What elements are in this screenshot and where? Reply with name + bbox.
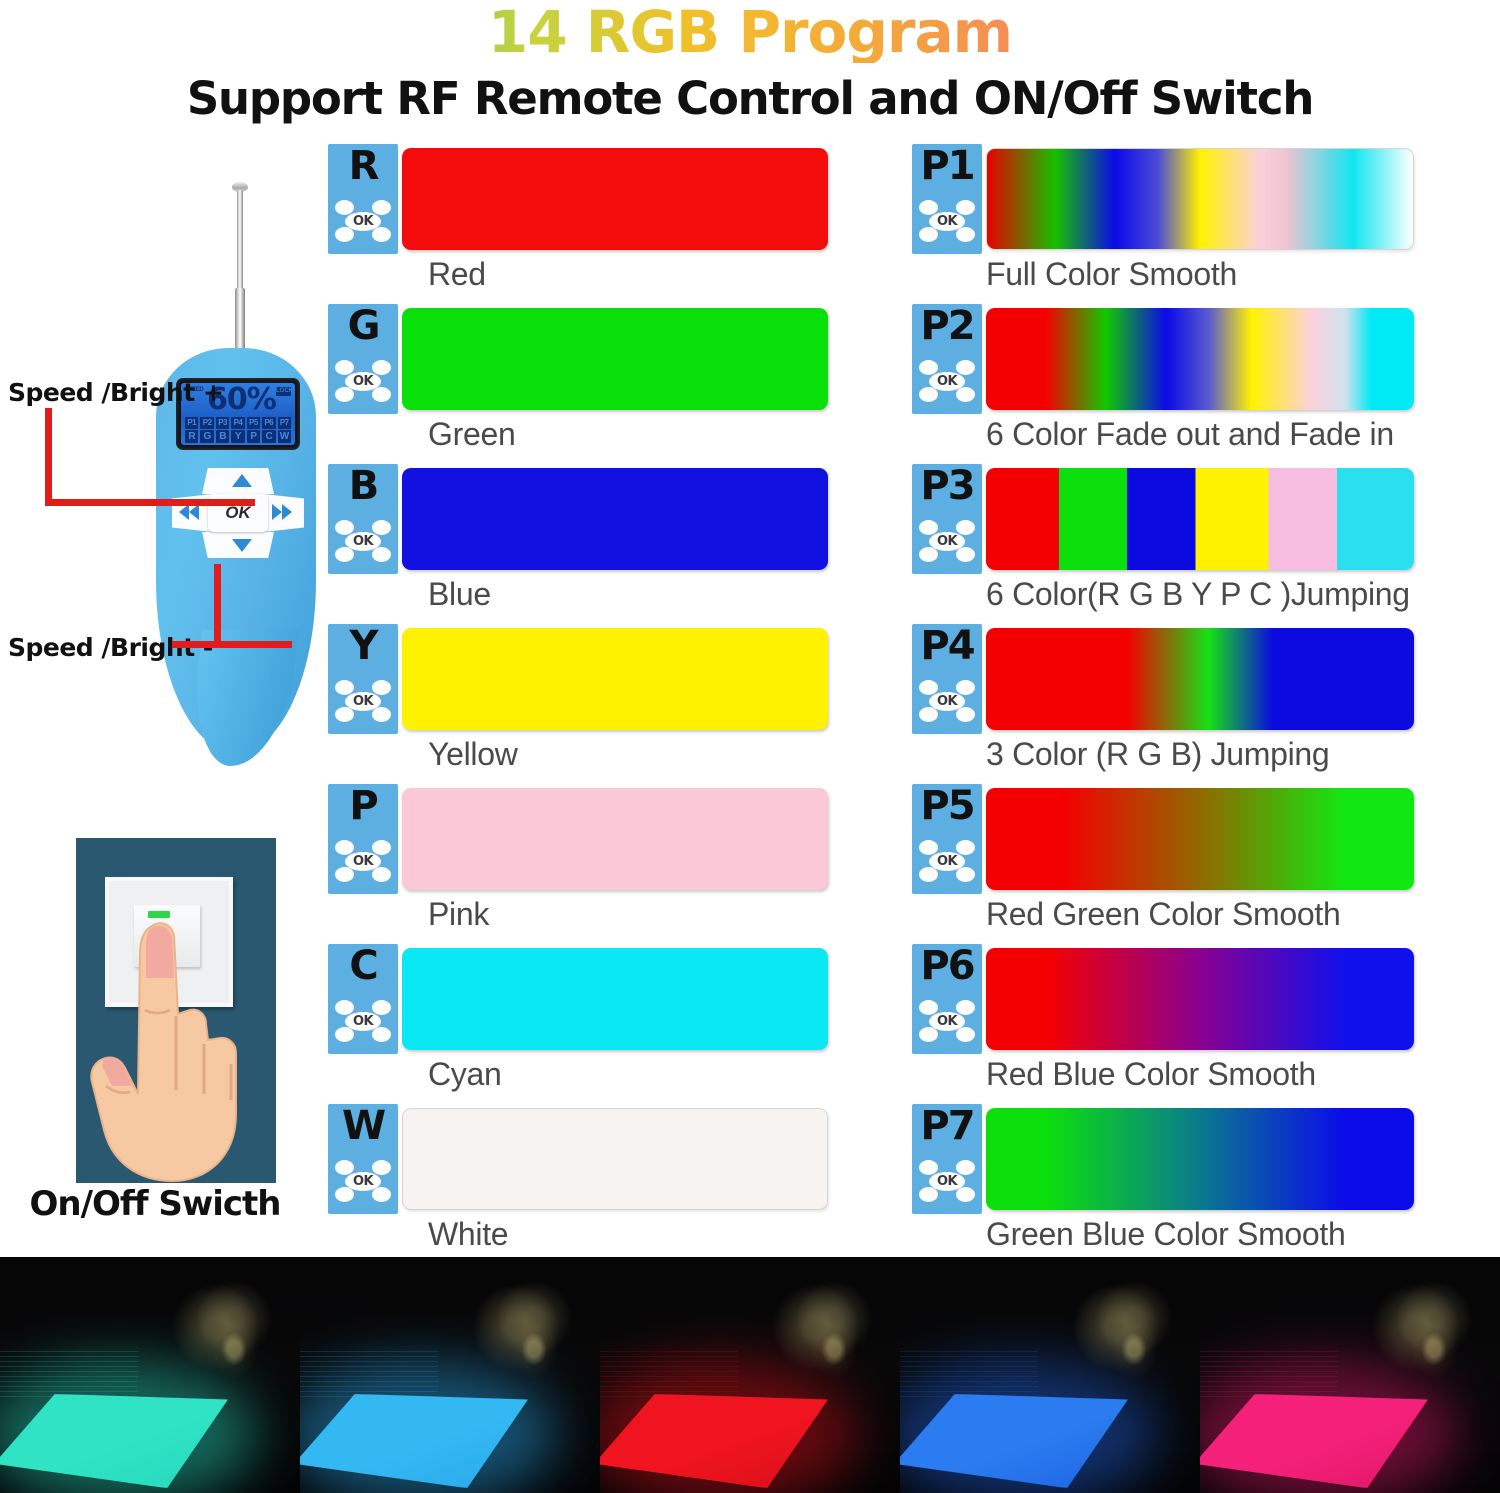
remote-key-icon-p4[interactable]: P4 OK	[912, 624, 982, 734]
key-letter: B	[328, 466, 398, 506]
key-ok-label: OK	[929, 692, 965, 711]
key-letter: P3	[912, 466, 982, 506]
mode-row-blue: B OK Blue	[328, 464, 828, 624]
mode-label: Red Blue Color Smooth	[986, 1056, 1316, 1093]
mode-label: Pink	[428, 896, 489, 933]
mode-row-cyan: C OK Cyan	[328, 944, 828, 1104]
lit-shrub	[210, 1318, 258, 1379]
switch-led-indicator	[148, 911, 170, 918]
mode-row-green: G OK Green	[328, 304, 828, 464]
key-dpad-icon: OK	[918, 676, 976, 728]
color-swatch-cyan	[402, 948, 828, 1050]
mode-row-white: W OK White	[328, 1104, 828, 1264]
key-letter: P4	[912, 626, 982, 666]
color-swatch-yellow	[402, 628, 828, 730]
gradient-swatch-p3	[986, 468, 1414, 570]
mode-label: 3 Color (R G B) Jumping	[986, 736, 1329, 773]
lit-shrub	[810, 1318, 858, 1379]
lcd-program-key: P1	[185, 417, 198, 429]
down-arrow-icon	[232, 539, 252, 552]
gradient-swatch-p2	[986, 308, 1414, 410]
mode-row-p5: P5 OK Red Green Color Smooth	[912, 784, 1417, 944]
mode-label: White	[428, 1216, 508, 1253]
antenna-upper-segment	[237, 190, 243, 290]
remote-key-icon-y[interactable]: Y OK	[328, 624, 398, 734]
remote-key-icon-p1[interactable]: P1 OK	[912, 144, 982, 254]
mode-row-p1: P1 OK Full Color Smooth	[912, 144, 1417, 304]
mode-row-yellow: Y OK Yellow	[328, 624, 828, 784]
mode-row-p6: P6 OK Red Blue Color Smooth	[912, 944, 1417, 1104]
pool-photo	[1200, 1257, 1500, 1493]
color-swatch-green	[402, 308, 828, 410]
gradient-swatch-p1	[986, 148, 1414, 250]
page-title: 14 RGB Program	[0, 2, 1500, 63]
page-subtitle: Support RF Remote Control and ON/Off Swi…	[0, 72, 1500, 125]
key-letter: P5	[912, 786, 982, 826]
callout-line-minus-horizontal	[172, 641, 292, 648]
rewind-icon	[179, 504, 199, 520]
key-dpad-icon: OK	[918, 196, 976, 248]
lcd-program-row: P1 P2 P3 P4 P5 P6 P7	[185, 417, 291, 429]
mode-label: Red Green Color Smooth	[986, 896, 1340, 933]
color-swatch-white	[402, 1108, 828, 1210]
key-ok-label: OK	[345, 692, 381, 711]
key-dpad-icon: OK	[334, 1156, 392, 1208]
mode-label: Blue	[428, 576, 491, 613]
lcd-color-key: C	[262, 430, 275, 443]
wall-switch-illustration	[76, 838, 276, 1183]
remote-key-icon-p[interactable]: P OK	[328, 784, 398, 894]
gradient-swatch-p4	[986, 628, 1414, 730]
lcd-program-key: P6	[262, 417, 275, 429]
callout-line-plus-horizontal	[45, 499, 255, 506]
key-ok-label: OK	[929, 852, 965, 871]
key-ok-label: OK	[929, 1012, 965, 1031]
mode-label: Green	[428, 416, 515, 453]
key-letter: P7	[912, 1106, 982, 1146]
callout-speed-bright-plus: Speed /Bright +	[8, 378, 223, 407]
key-letter: P	[328, 786, 398, 826]
remote-key-icon-c[interactable]: C OK	[328, 944, 398, 1054]
remote-key-icon-b[interactable]: B OK	[328, 464, 398, 574]
key-letter: W	[328, 1106, 398, 1146]
callout-line-plus-vertical	[45, 408, 52, 506]
lcd-color-key: Y	[231, 430, 244, 443]
key-letter: P2	[912, 306, 982, 346]
hand-icon	[90, 918, 245, 1183]
key-ok-label: OK	[929, 532, 965, 551]
key-dpad-icon: OK	[334, 516, 392, 568]
remote-key-icon-p7[interactable]: P7 OK	[912, 1104, 982, 1214]
product-infographic: 14 RGB Program Support RF Remote Control…	[0, 0, 1500, 1493]
lcd-color-key: P	[247, 430, 260, 443]
key-dpad-icon: OK	[918, 516, 976, 568]
mode-row-red: R OK Red	[328, 144, 828, 304]
key-dpad-icon: OK	[918, 836, 976, 888]
pool-photo	[0, 1257, 300, 1493]
solid-color-modes-column: R OK Red G OK Green B	[328, 144, 828, 1264]
remote-key-icon-p5[interactable]: P5 OK	[912, 784, 982, 894]
key-letter: R	[328, 146, 398, 186]
key-dpad-icon: OK	[334, 196, 392, 248]
mode-label: Yellow	[428, 736, 518, 773]
mode-label: Red	[428, 256, 486, 293]
pool-photo	[900, 1257, 1200, 1493]
lcd-color-key: B	[216, 430, 229, 443]
lcd-color-key: R	[185, 430, 198, 443]
pool-photo	[300, 1257, 600, 1493]
up-arrow-icon	[232, 474, 252, 487]
key-ok-label: OK	[929, 372, 965, 391]
key-ok-label: OK	[345, 1172, 381, 1191]
mode-row-pink: P OK Pink	[328, 784, 828, 944]
pool-photo	[600, 1257, 900, 1493]
lit-shrub	[1110, 1318, 1158, 1379]
key-dpad-icon: OK	[334, 996, 392, 1048]
lit-shrub	[510, 1318, 558, 1379]
remote-key-icon-p3[interactable]: P3 OK	[912, 464, 982, 574]
color-swatch-blue	[402, 468, 828, 570]
lcd-program-key: P5	[247, 417, 260, 429]
gradient-swatch-p5	[986, 788, 1414, 890]
switch-caption: On/Off Swicth	[10, 1184, 300, 1224]
lcd-color-key: W	[278, 430, 291, 443]
key-letter: Y	[328, 626, 398, 666]
key-letter: C	[328, 946, 398, 986]
lcd-color-row: R G B Y P C W	[185, 430, 291, 443]
mode-label: 6 Color Fade out and Fade in	[986, 416, 1394, 453]
key-letter: G	[328, 306, 398, 346]
remote-key-icon-w[interactable]: W OK	[328, 1104, 398, 1214]
lcd-lock-indicator: LOCK	[276, 387, 291, 396]
key-ok-label: OK	[345, 372, 381, 391]
remote-key-icon-g[interactable]: G OK	[328, 304, 398, 414]
key-dpad-icon: OK	[918, 996, 976, 1048]
lcd-program-key: P3	[216, 417, 229, 429]
callout-line-minus-vertical	[214, 564, 221, 648]
key-ok-label: OK	[929, 1172, 965, 1191]
mode-label: Cyan	[428, 1056, 502, 1093]
key-ok-label: OK	[345, 212, 381, 231]
fast-forward-icon	[272, 504, 292, 520]
lit-shrub	[1410, 1318, 1458, 1379]
mode-row-p2: P2 OK 6 Color Fade out and Fade in	[912, 304, 1417, 464]
key-dpad-icon: OK	[918, 1156, 976, 1208]
lcd-program-key: P7	[278, 417, 291, 429]
key-letter: P1	[912, 146, 982, 186]
mode-label: 6 Color(R G B Y P C )Jumping	[986, 576, 1410, 613]
key-ok-label: OK	[929, 212, 965, 231]
key-dpad-icon: OK	[334, 836, 392, 888]
key-dpad-icon: OK	[334, 676, 392, 728]
lcd-program-key: P2	[200, 417, 213, 429]
key-ok-label: OK	[345, 532, 381, 551]
key-ok-label: OK	[345, 852, 381, 871]
remote-key-icon-p2[interactable]: P2 OK	[912, 304, 982, 414]
lcd-color-key: G	[200, 430, 213, 443]
color-swatch-red	[402, 148, 828, 250]
mode-row-p4: P4 OK 3 Color (R G B) Jumping	[912, 624, 1417, 784]
antenna-lower-segment	[235, 288, 245, 350]
color-swatch-pink	[402, 788, 828, 890]
pool-photo-strip	[0, 1257, 1500, 1493]
mode-row-p7: P7 OK Green Blue Color Smooth	[912, 1104, 1417, 1264]
mode-label: Full Color Smooth	[986, 256, 1237, 293]
gradient-swatch-p6	[986, 948, 1414, 1050]
mode-row-p3: P3 OK 6 Color(R G B Y P C )Jumping	[912, 464, 1417, 624]
lcd-program-key: P4	[231, 417, 244, 429]
remote-key-icon-r[interactable]: R OK	[328, 144, 398, 254]
gradient-swatch-p7	[986, 1108, 1414, 1210]
program-modes-column: P1 OK Full Color Smooth P2 OK 6 Color Fa…	[912, 144, 1417, 1264]
rf-remote-illustration: SPEED 60% LOCK P1 P2 P3 P4 P5 P6 P7 R G …	[150, 160, 335, 760]
mode-label: Green Blue Color Smooth	[986, 1216, 1346, 1253]
key-ok-label: OK	[345, 1012, 381, 1031]
remote-key-icon-p6[interactable]: P6 OK	[912, 944, 982, 1054]
key-letter: P6	[912, 946, 982, 986]
key-dpad-icon: OK	[918, 356, 976, 408]
key-dpad-icon: OK	[334, 356, 392, 408]
